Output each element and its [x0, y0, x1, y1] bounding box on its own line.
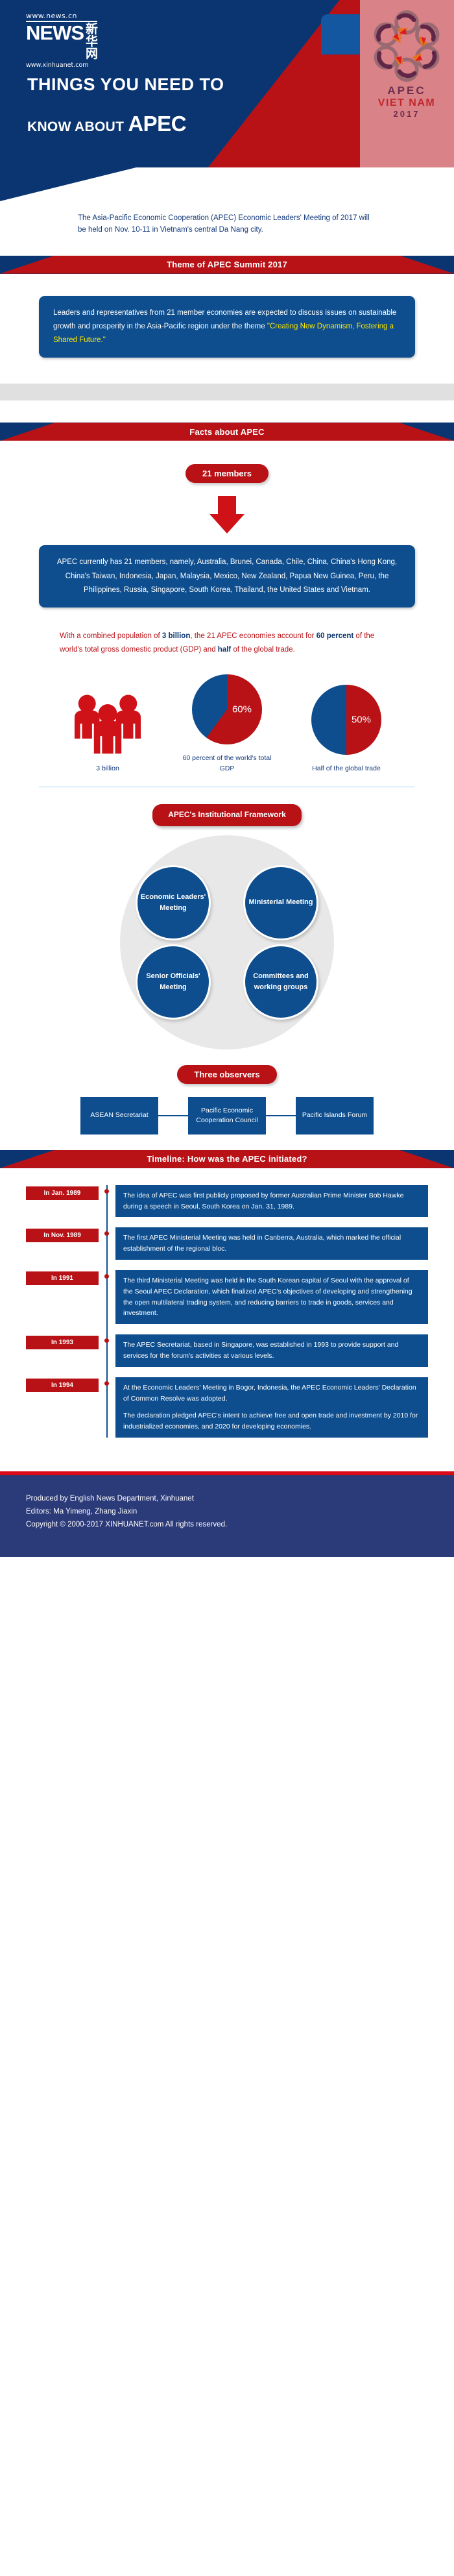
timeline-body: The idea of APEC was first publicly prop… [115, 1185, 428, 1218]
timeline-row: In Jan. 1989 The idea of APEC was first … [26, 1185, 428, 1218]
stat-part-2: , the 21 APEC economies account for [190, 632, 316, 640]
facts-banner: Facts about APEC [0, 423, 454, 441]
chart-gdp: 60% 60 percent of the world's total GDP [178, 674, 276, 774]
title-line-2: KNOW ABOUT APEC [27, 112, 306, 136]
timeline-paragraph: The third Ministerial Meeting was held i… [123, 1275, 420, 1319]
footer-copyright: Copyright © 2000-2017 XINHUANET.com All … [26, 1518, 428, 1531]
infographic-page: www.news.cn NEWS 新华网 www.xinhuanet.com T… [0, 0, 454, 1557]
theme-banner-label: Theme of APEC Summit 2017 [0, 256, 454, 274]
observer-box-pif: Pacific Islands Forum [296, 1097, 374, 1135]
footer-produced-by: Produced by English News Department, Xin… [26, 1492, 428, 1505]
stat-bold-2: 60 percent [317, 632, 354, 640]
timeline-body: The first APEC Ministerial Meeting was h… [115, 1227, 428, 1260]
header-blue-tab [321, 14, 360, 55]
section-separator [0, 384, 454, 400]
footer-editors: Editors: Ma Yimeng, Zhang Jiaxin [26, 1505, 428, 1518]
timeline-dot-icon [104, 1189, 109, 1194]
chart-trade-caption: Half of the global trade [298, 764, 395, 774]
stat-bold-1: 3 billion [162, 632, 190, 640]
timeline-row: In 1993 The APEC Secretariat, based in S… [26, 1334, 428, 1367]
timeline-section: In Jan. 1989 The idea of APEC was first … [0, 1168, 454, 1471]
facts-section: 21 members APEC currently has 21 members… [0, 441, 454, 787]
observer-connector-left [158, 1097, 188, 1135]
apec-logo-line-2: VIET NAM [366, 97, 448, 109]
timeline-body: At the Economic Leaders' Meeting in Bogo… [115, 1377, 428, 1438]
timeline-paragraph: At the Economic Leaders' Meeting in Bogo… [123, 1382, 420, 1405]
theme-section: Leaders and representatives from 21 memb… [0, 274, 454, 384]
pie-gdp-label: 60% [232, 704, 252, 715]
theme-text-box: Leaders and representatives from 21 memb… [39, 296, 415, 358]
down-arrow-icon [207, 495, 247, 535]
framework-node-senior-officials: Senior Officials' Meeting [136, 944, 211, 1020]
timeline-banner-label: Timeline: How was the APEC initiated? [0, 1150, 454, 1168]
observer-box-pecc: Pacific Economic Cooperation Council [188, 1097, 266, 1135]
timeline-spine [99, 1270, 115, 1324]
timeline-date: In 1993 [26, 1336, 99, 1349]
header-white-band-notch [0, 167, 136, 201]
framework-section: APEC's Institutional Framework Economic … [0, 787, 454, 1056]
timeline-dot-icon [104, 1274, 109, 1279]
chart-trade: 50% Half of the global trade [298, 685, 395, 774]
timeline-banner: Timeline: How was the APEC initiated? [0, 1150, 454, 1168]
header: www.news.cn NEWS 新华网 www.xinhuanet.com T… [0, 0, 454, 201]
xinhua-logo: www.news.cn NEWS 新华网 www.xinhuanet.com [26, 12, 97, 69]
timeline-paragraph: The declaration pledged APEC's intent to… [123, 1410, 420, 1432]
title-line-1: THINGS YOU NEED TO [27, 75, 306, 95]
observers-section: Three observers ASEAN Secretariat Pacifi… [0, 1056, 454, 1150]
framework-diagram: Economic Leaders' Meeting Ministerial Me… [120, 835, 334, 1049]
pie-gdp: 60% [192, 674, 262, 744]
timeline-paragraph: The idea of APEC was first publicly prop… [123, 1190, 420, 1212]
stat-part-1: With a combined population of [60, 632, 162, 640]
timeline-spine [99, 1227, 115, 1260]
stat-bold-3: half [218, 646, 231, 654]
timeline-row: In 1991 The third Ministerial Meeting wa… [26, 1270, 428, 1324]
members-box-wrap: APEC currently has 21 members, namely, A… [39, 545, 415, 607]
xinhua-news-mark: NEWS [26, 23, 84, 42]
statistics-text: With a combined population of 3 billion,… [60, 630, 394, 657]
footer: Produced by English News Department, Xin… [0, 1471, 454, 1557]
apec-logo-line-3: 2017 [366, 109, 448, 119]
chart-population: 3 billion [59, 685, 156, 774]
timeline-spine [99, 1377, 115, 1438]
title-apec-word: APEC [128, 112, 186, 136]
timeline-dot-icon [104, 1338, 109, 1343]
xinhua-url-top: www.news.cn [26, 12, 97, 22]
chart-gdp-caption: 60 percent of the world's total GDP [178, 754, 276, 774]
timeline-row: In 1994 At the Economic Leaders' Meeting… [26, 1377, 428, 1438]
timeline-date: In Nov. 1989 [26, 1229, 99, 1242]
framework-node-committees: Committees and working groups [243, 944, 318, 1020]
timeline-date: In Jan. 1989 [26, 1186, 99, 1200]
members-pill: 21 members [185, 464, 269, 483]
apec-vietnam-2017-logo: APEC VIET NAM 2017 [366, 9, 448, 119]
observer-box-asean: ASEAN Secretariat [80, 1097, 158, 1135]
pie-trade: 50% [311, 685, 381, 755]
statistics-charts: 3 billion 60% 60 percent of the world's … [0, 674, 454, 774]
timeline-paragraph: The APEC Secretariat, based in Singapore… [123, 1340, 420, 1362]
title-line-2-prefix: KNOW ABOUT [27, 119, 128, 134]
pie-trade-label: 50% [352, 714, 371, 725]
timeline-date: In 1991 [26, 1271, 99, 1285]
timeline-paragraph: The first APEC Ministerial Meeting was h… [123, 1233, 420, 1255]
framework-node-ministerial: Ministerial Meeting [243, 865, 318, 940]
timeline-dot-icon [104, 1381, 109, 1386]
header-white-band [0, 167, 454, 201]
framework-pill: APEC's Institutional Framework [152, 804, 302, 826]
framework-backdrop [120, 835, 334, 1049]
people-icon [59, 685, 156, 755]
members-text-box: APEC currently has 21 members, namely, A… [39, 545, 415, 607]
apec-lotus-icon [370, 9, 443, 82]
timeline-row: In Nov. 1989 The first APEC Ministerial … [26, 1227, 428, 1260]
spacer-1 [0, 400, 454, 423]
timeline-spine [99, 1334, 115, 1367]
stat-part-4: of the global trade. [231, 646, 294, 654]
apec-logo-line-1: APEC [366, 84, 448, 97]
page-title: THINGS YOU NEED TO KNOW ABOUT APEC [27, 75, 306, 136]
timeline-spine [99, 1185, 115, 1218]
theme-banner: Theme of APEC Summit 2017 [0, 256, 454, 274]
chart-population-caption: 3 billion [59, 764, 156, 774]
framework-node-leaders: Economic Leaders' Meeting [136, 865, 211, 940]
observers-pill: Three observers [177, 1065, 276, 1084]
timeline-body: The third Ministerial Meeting was held i… [115, 1270, 428, 1324]
timeline-dot-icon [104, 1231, 109, 1236]
observer-connector-right [266, 1097, 296, 1135]
intro-text: The Asia-Pacific Economic Cooperation (A… [78, 213, 376, 236]
timeline-date: In 1994 [26, 1379, 99, 1392]
facts-banner-label: Facts about APEC [0, 423, 454, 441]
xinhua-chinese-mark: 新华网 [86, 23, 98, 60]
intro-section: The Asia-Pacific Economic Cooperation (A… [0, 201, 454, 256]
xinhua-url-bottom: www.xinhuanet.com [26, 62, 97, 69]
timeline-body: The APEC Secretariat, based in Singapore… [115, 1334, 428, 1367]
observers-row: ASEAN Secretariat Pacific Economic Coope… [0, 1097, 454, 1135]
